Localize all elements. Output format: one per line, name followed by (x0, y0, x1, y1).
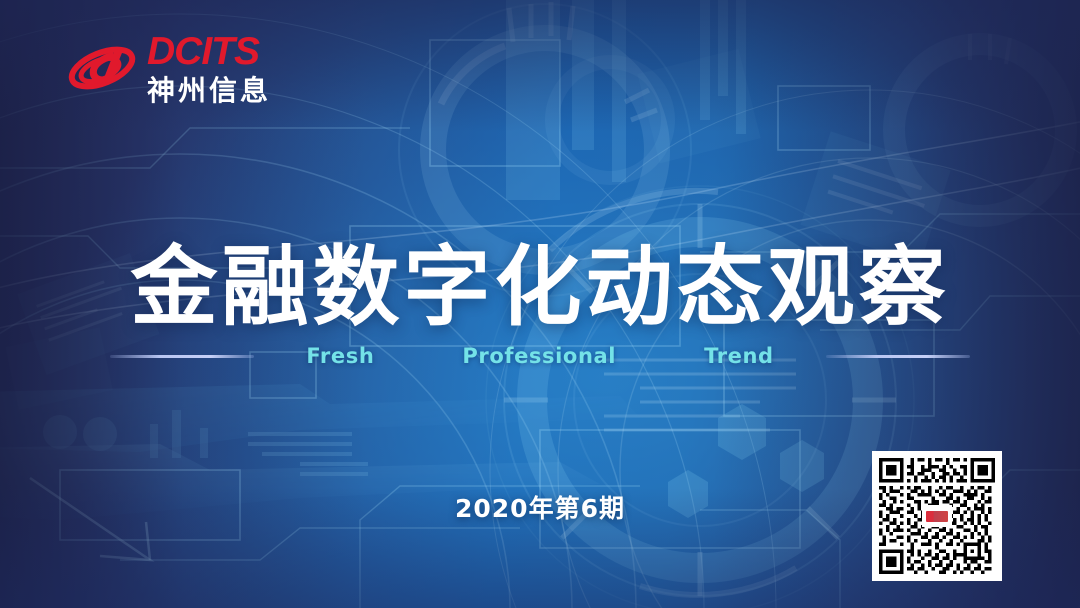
tagline-row: Fresh Professional Trend (0, 340, 1080, 372)
tagline-rule-right (826, 355, 970, 358)
dcits-badge-icon (922, 505, 952, 527)
brand-name-en: DCITS (147, 32, 271, 71)
tagline-word-fresh: Fresh (306, 344, 374, 368)
dcits-swoosh-icon (66, 36, 138, 100)
qr-code-inner (879, 458, 995, 574)
brand-wordmark: DCITS 神州信息 (147, 30, 271, 105)
tagline-rule-left (110, 355, 254, 358)
qr-code[interactable] (872, 451, 1002, 581)
tagline-word-trend: Trend (704, 344, 774, 368)
poster-canvas: DCITS 神州信息 金融数字化动态观察 Fresh Professional … (0, 0, 1080, 608)
brand-name-cn: 神州信息 (147, 77, 271, 105)
brand-logo: DCITS 神州信息 (66, 30, 271, 105)
tagline-word-professional: Professional (462, 344, 616, 368)
tagline-words: Fresh Professional Trend (306, 344, 773, 368)
page-title: 金融数字化动态观察 (0, 244, 1080, 331)
badge-bar (926, 511, 948, 522)
